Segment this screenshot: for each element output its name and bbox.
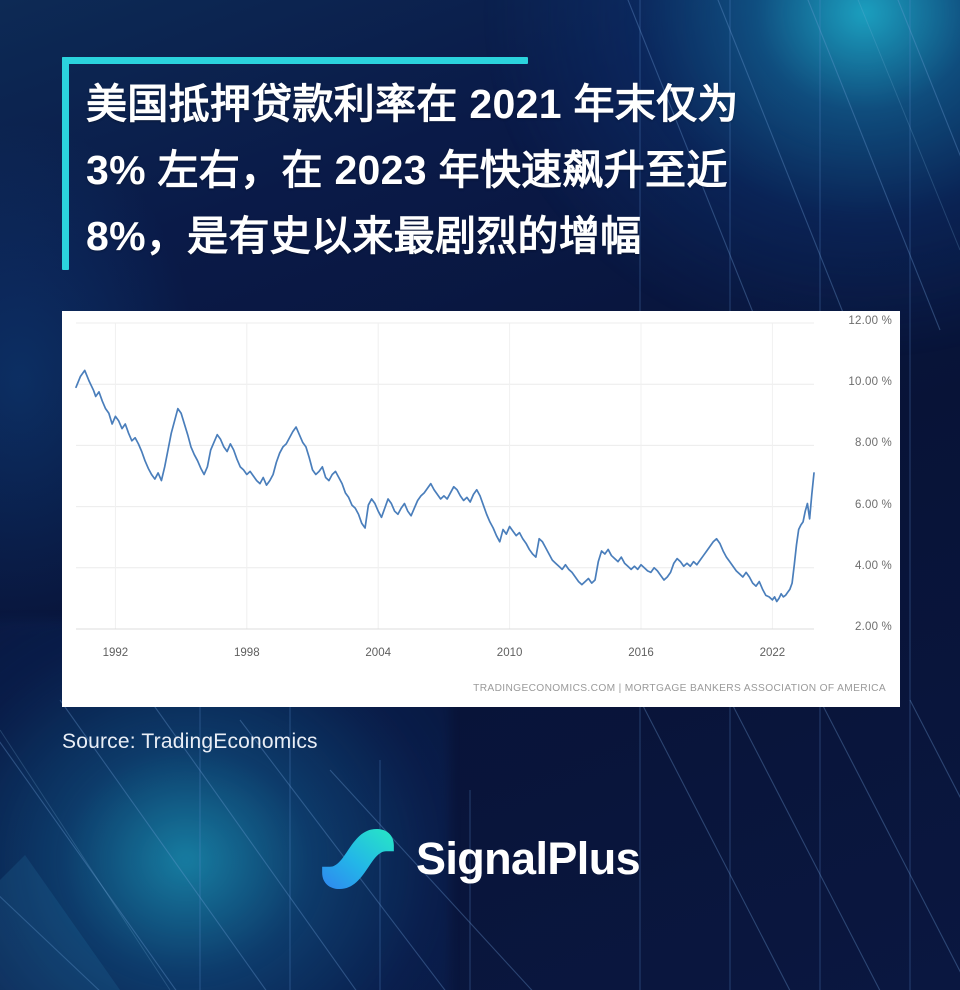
y-tick-label: 4.00 %: [855, 560, 892, 572]
signalplus-mark-icon: [320, 828, 396, 890]
headline-text: 美国抵押贷款利率在 2021 年末仅为 3% 左右，在 2023 年快速飙升至近…: [62, 57, 872, 269]
x-tick-label: 2010: [497, 647, 523, 659]
x-tick-label: 2022: [760, 647, 786, 659]
chart-plot-area: 12.00 %10.00 %8.00 %6.00 %4.00 %2.00 % 1…: [62, 311, 900, 707]
y-tick-label: 10.00 %: [848, 376, 892, 388]
source-label: Source: TradingEconomics: [62, 730, 318, 754]
chart-attribution: TRADINGECONOMICS.COM | MORTGAGE BANKERS …: [473, 683, 886, 694]
x-tick-label: 2016: [628, 647, 654, 659]
signalplus-wordmark: SignalPlus: [416, 833, 640, 885]
headline-block: 美国抵押贷款利率在 2021 年末仅为 3% 左右，在 2023 年快速飙升至近…: [62, 57, 872, 269]
headline-line-1: 美国抵押贷款利率在 2021 年末仅为: [86, 71, 872, 137]
accent-bar-top: [62, 57, 528, 64]
y-tick-label: 2.00 %: [855, 621, 892, 633]
chart-card: 12.00 %10.00 %8.00 %6.00 %4.00 %2.00 % 1…: [62, 311, 900, 707]
x-tick-label: 1998: [234, 647, 260, 659]
x-tick-label: 1992: [103, 647, 129, 659]
x-tick-label: 2004: [365, 647, 391, 659]
accent-bar-left: [62, 57, 69, 270]
y-tick-label: 6.00 %: [855, 499, 892, 511]
headline-line-2: 3% 左右，在 2023 年快速飙升至近: [86, 137, 872, 203]
headline-line-3: 8%，是有史以来最剧烈的增幅: [86, 203, 872, 269]
y-tick-label: 8.00 %: [855, 437, 892, 449]
brand-logo: SignalPlus: [0, 828, 960, 890]
y-tick-label: 12.00 %: [848, 315, 892, 327]
